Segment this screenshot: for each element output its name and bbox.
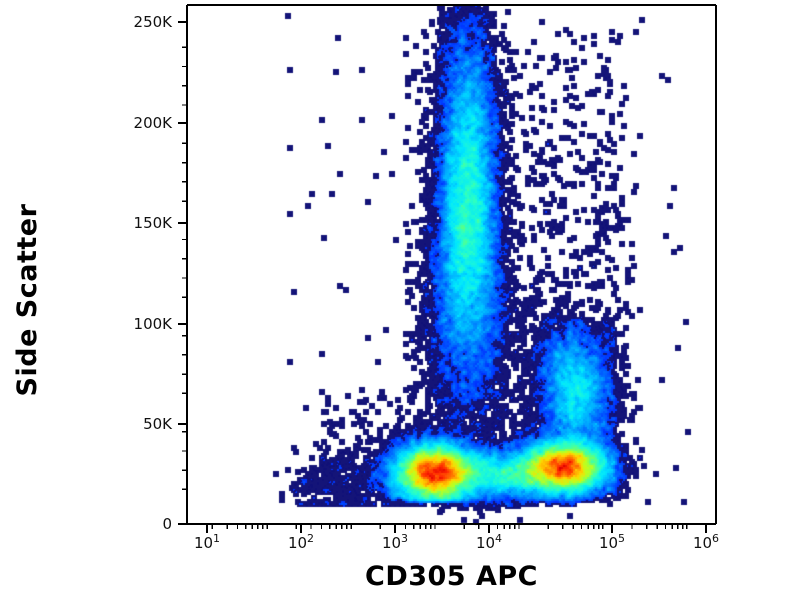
x-tick-exponent: 6 <box>712 532 719 545</box>
x-tick-label: 103 <box>367 532 423 552</box>
x-tick-exponent: 3 <box>401 532 408 545</box>
x-tick-exponent: 5 <box>618 532 625 545</box>
x-tick-exponent: 2 <box>307 532 314 545</box>
x-tick-label: 105 <box>584 532 640 552</box>
axes-overlay <box>0 0 800 600</box>
y-tick-label: 50K <box>120 415 172 433</box>
x-tick-mantissa: 10 <box>194 534 213 552</box>
x-tick-exponent: 4 <box>495 532 502 545</box>
y-tick-label: 250K <box>120 13 172 31</box>
x-tick-exponent: 1 <box>213 532 220 545</box>
x-tick-mantissa: 10 <box>288 534 307 552</box>
x-tick-label: 106 <box>678 532 734 552</box>
x-tick-mantissa: 10 <box>599 534 618 552</box>
x-tick-mantissa: 10 <box>382 534 401 552</box>
x-tick-label: 104 <box>461 532 517 552</box>
x-tick-label: 102 <box>273 532 329 552</box>
y-tick-label: 0 <box>120 515 172 533</box>
flow-cytometry-figure: Side Scatter CD305 APC 050K100K150K200K2… <box>0 0 800 600</box>
x-tick-mantissa: 10 <box>476 534 495 552</box>
y-tick-label: 150K <box>120 214 172 232</box>
y-tick-label: 200K <box>120 114 172 132</box>
x-tick-mantissa: 10 <box>693 534 712 552</box>
x-tick-label: 101 <box>179 532 235 552</box>
y-tick-label: 100K <box>120 315 172 333</box>
